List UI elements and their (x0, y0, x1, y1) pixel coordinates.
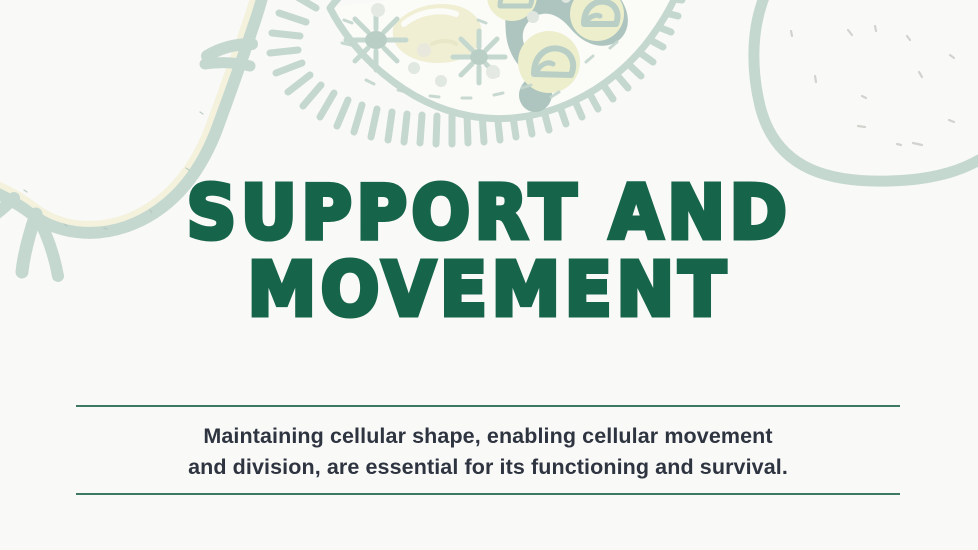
page-title: Support and Movement (0, 178, 978, 326)
subtitle-section: Maintaining cellular shape, enabling cel… (76, 405, 900, 495)
paramecium-cell-illustration (270, 0, 686, 144)
cytoplasm-speckles (371, 0, 571, 87)
oral-groove (393, 4, 482, 63)
divider-bottom (76, 493, 900, 495)
cilia-group (270, 0, 682, 144)
round-cell-outline-illustration (754, 0, 978, 181)
subtitle-line-2: and division, are essential for its func… (76, 452, 900, 483)
title-line-1: Support and (34, 178, 944, 249)
contractile-vacuole-group (346, 10, 505, 83)
food-vacuole-group (487, 0, 624, 93)
slide-canvas: Support and Movement Maintaining cellula… (0, 0, 978, 550)
title-line-2: Movement (34, 255, 944, 326)
subtitle-line-1: Maintaining cellular shape, enabling cel… (76, 421, 900, 452)
subtitle-text: Maintaining cellular shape, enabling cel… (76, 407, 900, 493)
